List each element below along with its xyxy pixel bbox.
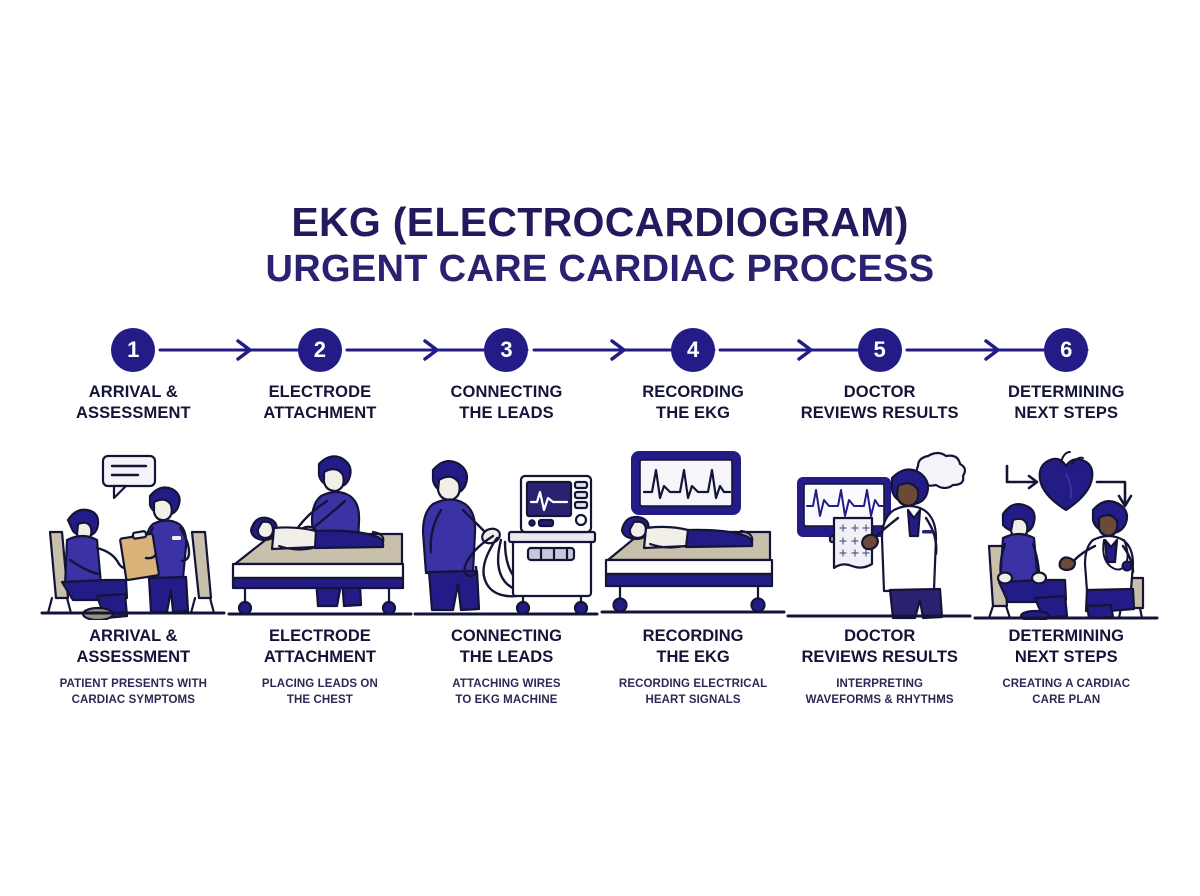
caption-subtitle-4: RECORDING ELECTRICAL HEART SIGNALS [604, 677, 783, 709]
caption-title-1: ARRIVAL & ASSESSMENT [44, 626, 223, 669]
infographic-canvas: EKG (ELECTROCARDIOGRAM) URGENT CARE CARD… [0, 0, 1200, 896]
ekg-machine-cart [509, 532, 595, 614]
ekg-waveform-screen [632, 452, 740, 514]
step-number-4: 4 [671, 328, 715, 372]
caption-title-6: DETERMINING NEXT STEPS [977, 626, 1156, 669]
step-number-3: 3 [484, 328, 528, 372]
step-label-1: ARRIVAL & ASSESSMENT [40, 382, 227, 424]
illustration-connecting-leads [413, 448, 600, 620]
caption-cell-6: DETERMINING NEXT STEPS CREATING A CARDIA… [973, 626, 1160, 709]
step-number-6: 6 [1044, 328, 1088, 372]
caption-cell-5: DOCTOR REVIEWS RESULTS INTERPRETING WAVE… [786, 626, 973, 709]
captions-row: ARRIVAL & ASSESSMENT PATIENT PRESENTS WI… [40, 626, 1160, 709]
step-node-1[interactable]: 1 [40, 325, 227, 375]
step-label-3: CONNECTING THE LEADS [413, 382, 600, 424]
caption-cell-4: RECORDING THE EKG RECORDING ELECTRICAL H… [600, 626, 787, 709]
step-circles-row: 1 2 3 4 5 6 [40, 325, 1160, 375]
heart-icon [1040, 452, 1093, 510]
title-block: EKG (ELECTROCARDIOGRAM) URGENT CARE CARD… [0, 200, 1200, 292]
caption-subtitle-3: ATTACHING WIRES TO EKG MACHINE [417, 677, 596, 709]
seated-doctor [1060, 501, 1134, 618]
ekg-monitor [521, 476, 591, 532]
caption-subtitle-6: CREATING A CARDIAC CARE PLAN [977, 677, 1156, 709]
clipboard-icon [120, 531, 159, 580]
illustration-determining-next-steps [973, 448, 1160, 620]
illustration-electrode-attachment [227, 448, 414, 620]
step-label-2: ELECTRODE ATTACHMENT [227, 382, 414, 424]
illustration-doctor-reviews [786, 448, 973, 620]
step-node-3[interactable]: 3 [413, 325, 600, 375]
step-number-1: 1 [111, 328, 155, 372]
step-node-5[interactable]: 5 [786, 325, 973, 375]
illustration-recording-ekg [600, 448, 787, 620]
page-title-line1: EKG (ELECTROCARDIOGRAM) [0, 200, 1200, 246]
page-title-line2: URGENT CARE CARDIAC PROCESS [0, 248, 1200, 292]
speech-bubble-icon [103, 456, 155, 498]
step-number-5: 5 [858, 328, 902, 372]
step-label-6: DETERMINING NEXT STEPS [973, 382, 1160, 424]
caption-title-2: ELECTRODE ATTACHMENT [231, 626, 410, 669]
illustration-arrival-assessment [40, 448, 227, 620]
illustrations-row [40, 448, 1160, 620]
caption-cell-3: CONNECTING THE LEADS ATTACHING WIRES TO … [413, 626, 600, 709]
caption-cell-2: ELECTRODE ATTACHMENT PLACING LEADS ON TH… [227, 626, 414, 709]
seated-patient [998, 504, 1067, 620]
caption-title-5: DOCTOR REVIEWS RESULTS [790, 626, 969, 669]
step-node-2[interactable]: 2 [227, 325, 414, 375]
caption-subtitle-1: PATIENT PRESENTS WITH CARDIAC SYMPTOMS [44, 677, 223, 709]
caption-title-3: CONNECTING THE LEADS [417, 626, 596, 669]
step-number-2: 2 [298, 328, 342, 372]
step-labels-row: ARRIVAL & ASSESSMENT ELECTRODE ATTACHMEN… [40, 382, 1160, 424]
step-node-6[interactable]: 6 [973, 325, 1160, 375]
caption-cell-1: ARRIVAL & ASSESSMENT PATIENT PRESENTS WI… [40, 626, 227, 709]
step-node-4[interactable]: 4 [600, 325, 787, 375]
standing-nurse [120, 488, 189, 612]
caption-title-4: RECORDING THE EKG [604, 626, 783, 669]
step-label-4: RECORDING THE EKG [600, 382, 787, 424]
caption-subtitle-5: INTERPRETING WAVEFORMS & RHYTHMS [790, 677, 969, 709]
step-label-5: DOCTOR REVIEWS RESULTS [786, 382, 973, 424]
chair-right [191, 532, 214, 613]
caption-subtitle-2: PLACING LEADS ON THE CHEST [231, 677, 410, 709]
